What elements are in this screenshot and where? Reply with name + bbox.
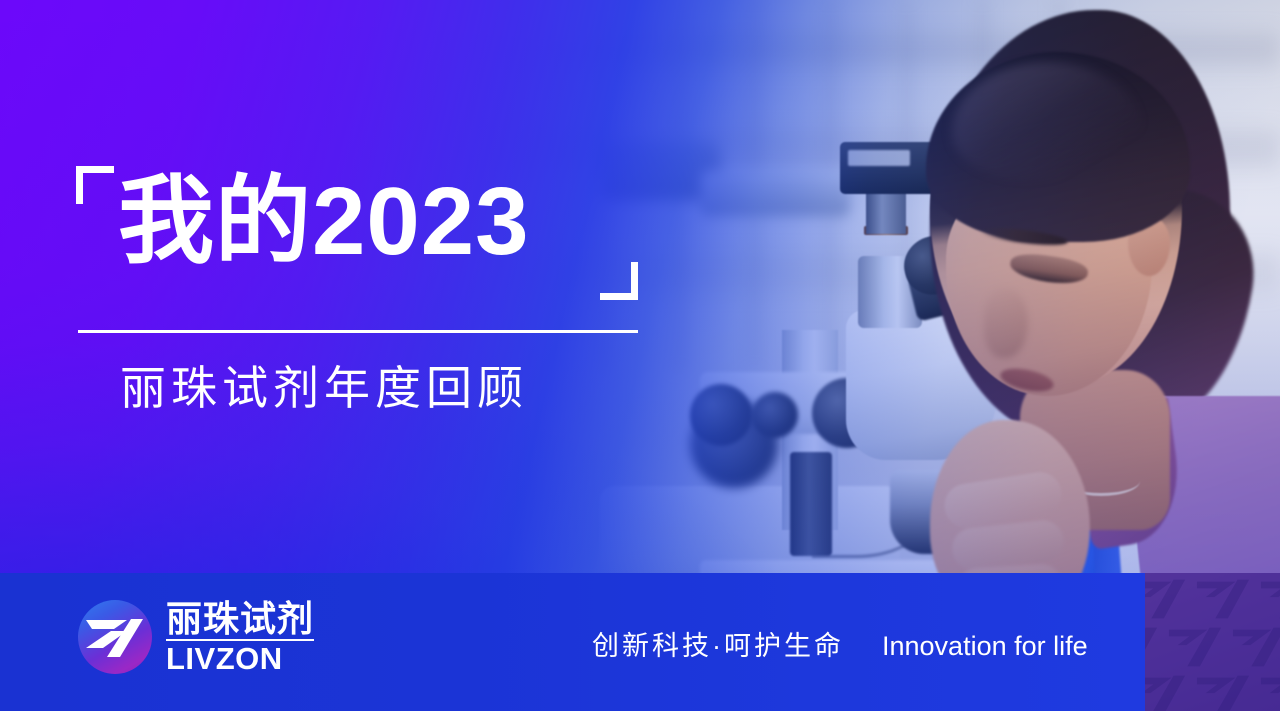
livzon-zl-monogram-icon	[1259, 673, 1280, 711]
livzon-zl-monogram-icon	[1167, 625, 1225, 669]
tagline-cn: 创新科技·呵护生命	[592, 624, 844, 663]
brand-name-cn: 丽珠试剂	[166, 601, 314, 637]
watermark-row	[1145, 577, 1280, 621]
watermark-row	[1145, 673, 1280, 711]
brand-logo[interactable]: 丽珠试剂 LIVZON	[78, 600, 314, 674]
banner: 我的2023 丽珠试剂年度回顾	[0, 0, 1280, 711]
footer-watermark-panel	[1145, 573, 1280, 711]
title-divider	[78, 330, 638, 333]
livzon-logo-mark-icon	[78, 600, 152, 674]
brand-name-en: LIVZON	[166, 643, 314, 674]
livzon-zl-monogram-icon	[1195, 673, 1253, 711]
brand-tagline: 创新科技·呵护生命 Innovation for life	[592, 624, 1088, 663]
brand-logo-words: 丽珠试剂 LIVZON	[166, 601, 314, 674]
livzon-zl-monogram-icon	[1145, 673, 1189, 711]
livzon-zl-monogram-icon	[1231, 625, 1280, 669]
page-title: 我的2023	[118, 174, 530, 270]
corner-bracket-bottom-right-icon	[600, 262, 638, 300]
livzon-zl-monogram-icon	[1259, 577, 1280, 621]
livzon-zl-monogram-icon	[1195, 577, 1253, 621]
livzon-zl-monogram-icon	[1145, 577, 1189, 621]
tagline-en: Innovation for life	[882, 631, 1088, 662]
watermark-row	[1145, 625, 1280, 669]
corner-bracket-top-left-icon	[76, 166, 114, 204]
livzon-zl-monogram-icon	[1145, 625, 1161, 669]
page-subtitle: 丽珠试剂年度回顾	[120, 362, 528, 415]
